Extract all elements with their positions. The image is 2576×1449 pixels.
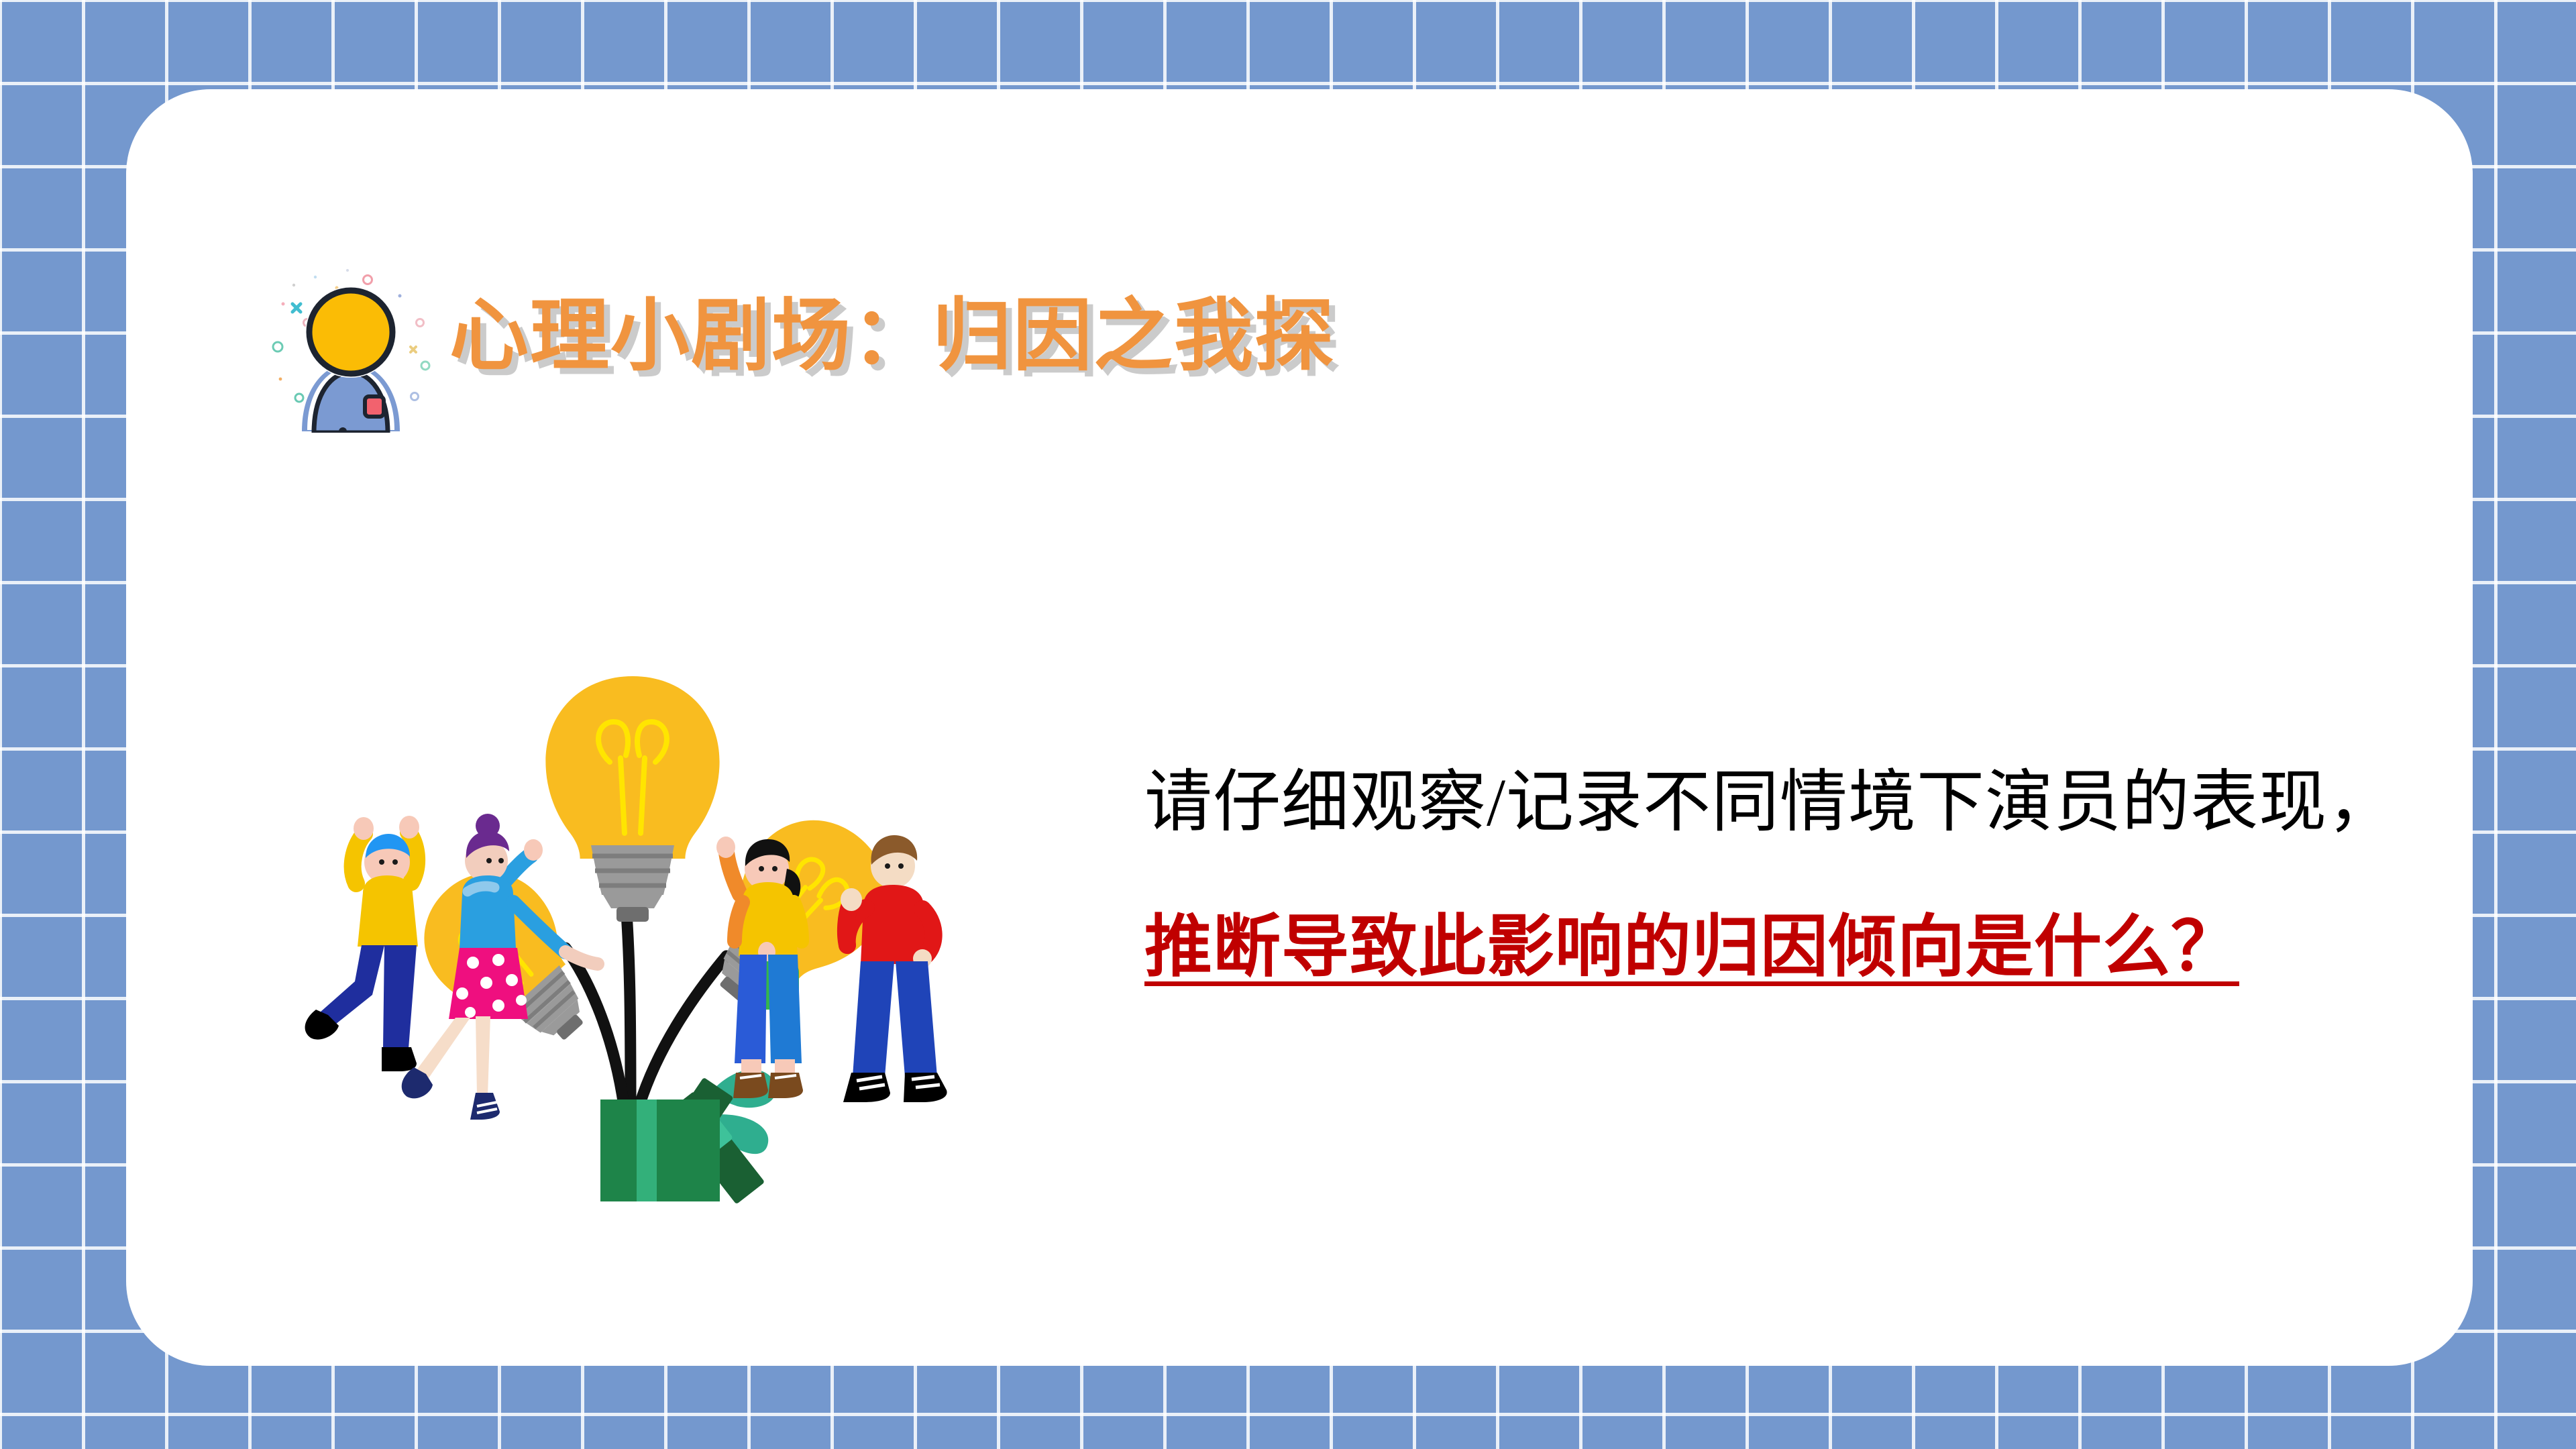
body-paragraph: 请仔细观察/记录不同情境下演员的表现，推断导致此影响的归因倾向是什么？: [1144, 730, 2459, 1020]
body-line-2: 表现，: [2190, 765, 2396, 840]
body-line-1: 请仔细观察/记录不同情境下演员的: [1144, 765, 2190, 840]
slide-header: 心理小剧场：归因之我探: [126, 89, 2473, 311]
lightbulbs-gift-people-illustration: [297, 612, 988, 1216]
slide-card: 心理小剧场：归因之我探: [126, 89, 2473, 1366]
page-title: 心理小剧场：归因之我探: [449, 296, 1335, 375]
body-highlight-question: 推断导致此影响的归因倾向是什么？: [1144, 910, 2239, 985]
person-avatar-icon: [267, 265, 435, 433]
